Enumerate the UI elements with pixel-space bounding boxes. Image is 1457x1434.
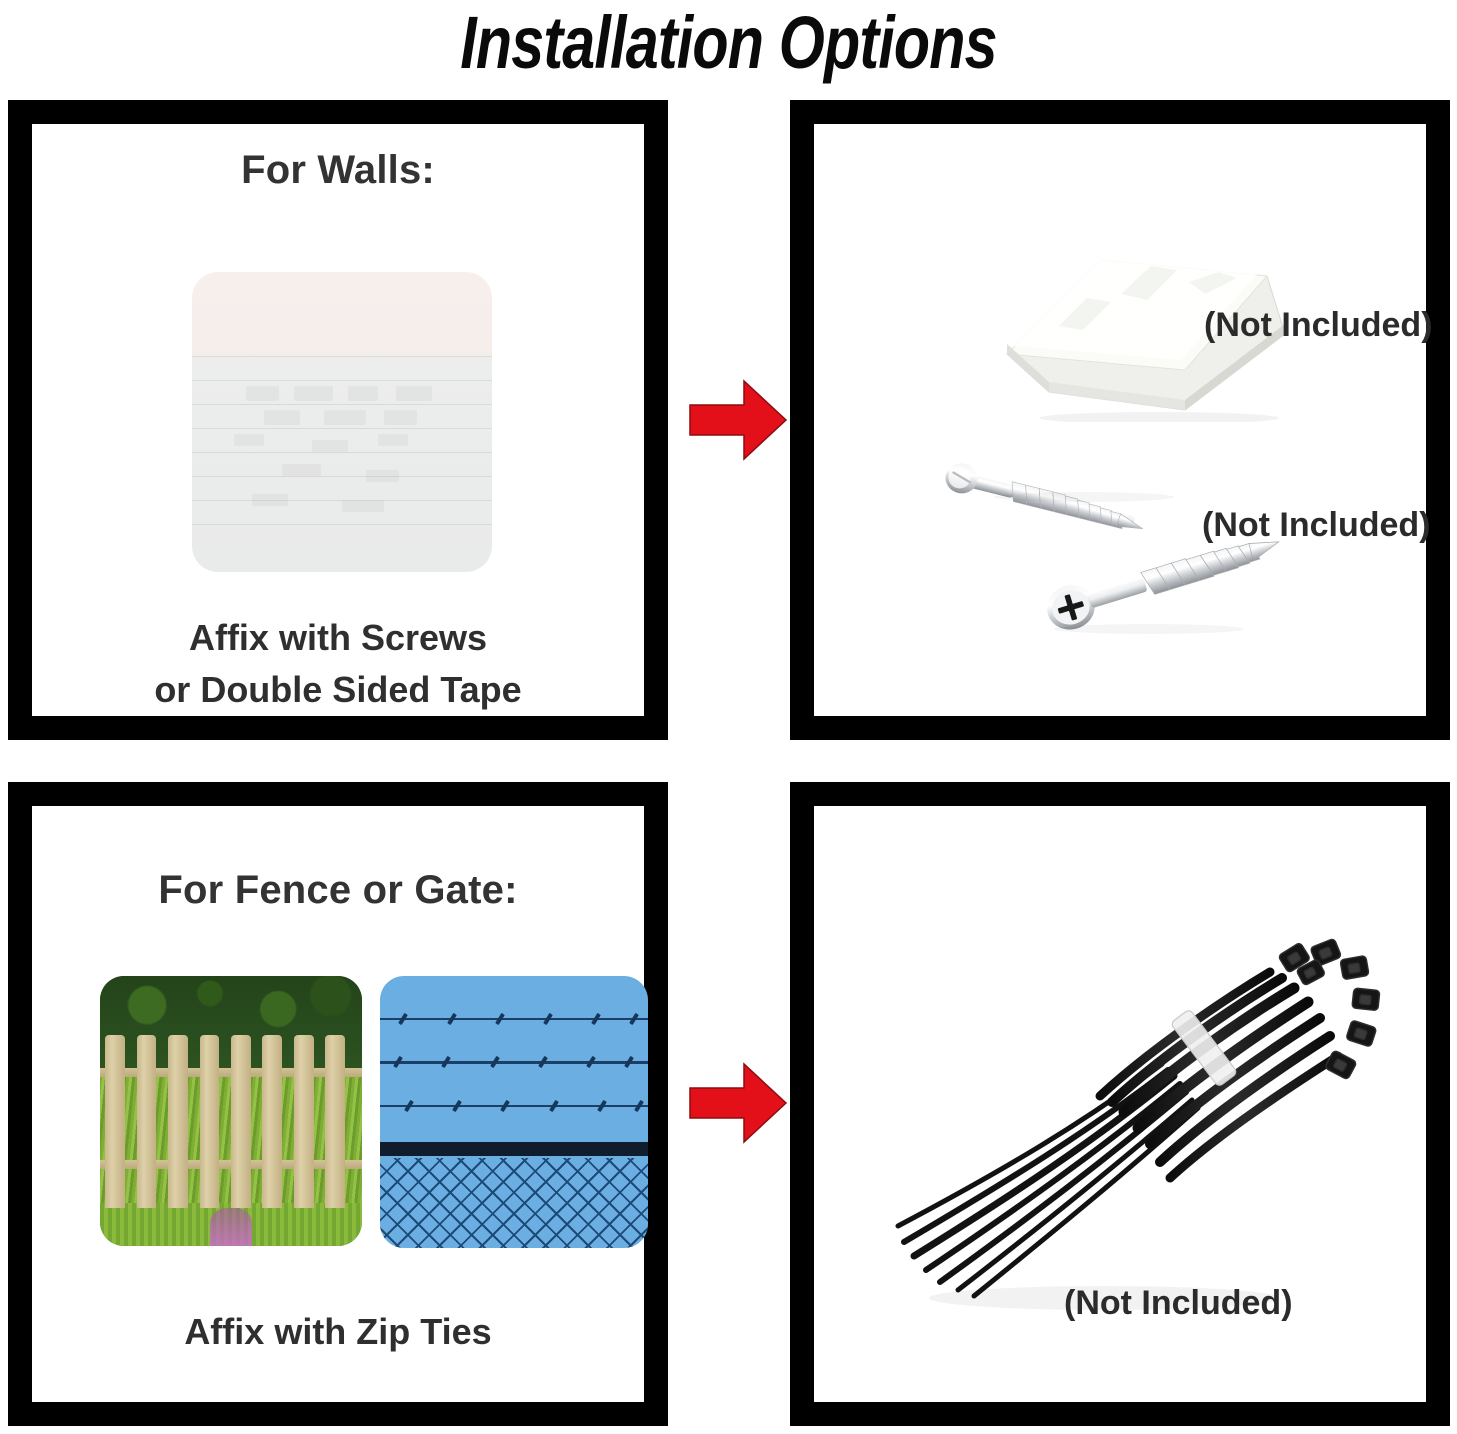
chain-link-barbed-wire-fence-image xyxy=(380,976,648,1248)
panel-zip-ties: (Not Included) xyxy=(790,782,1450,1426)
panel-for-walls: For Walls: Affix with S xyxy=(8,100,668,740)
red-right-arrow-icon xyxy=(688,377,788,463)
walls-caption-line-1: Affix with Screws xyxy=(32,612,644,664)
red-right-arrow-icon xyxy=(688,1060,788,1146)
for-fence-heading: For Fence or Gate: xyxy=(32,868,644,913)
wooden-picket-fence-image xyxy=(100,976,362,1246)
panel-screws-and-tape: (Not Included) xyxy=(790,100,1450,740)
zipties-not-included-label: (Not Included) xyxy=(1064,1284,1293,1323)
fence-caption: Affix with Zip Ties xyxy=(32,1306,644,1358)
panel-for-fence-or-gate: For Fence or Gate: xyxy=(8,782,668,1426)
walls-caption-line-2: or Double Sided Tape xyxy=(32,664,644,716)
black-zip-tie-bundle-image xyxy=(874,926,1394,1326)
tape-not-included-label: (Not Included) xyxy=(1204,306,1433,345)
for-walls-heading: For Walls: xyxy=(32,148,644,193)
screws-not-included-label: (Not Included) xyxy=(1202,506,1431,545)
page-title: Installation Options xyxy=(146,2,1312,82)
white-brick-wall-image xyxy=(192,272,492,572)
